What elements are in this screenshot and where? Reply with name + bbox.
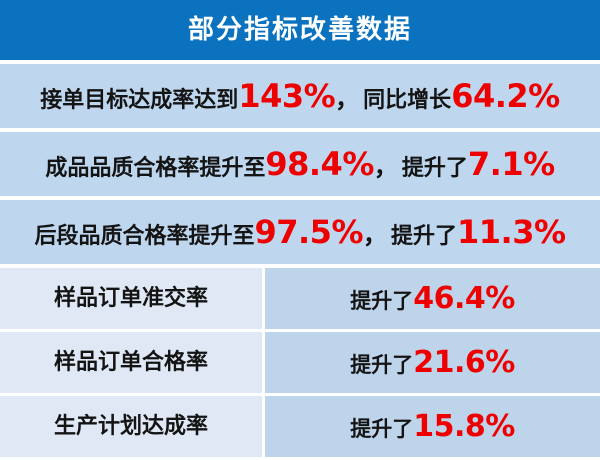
statement-prefix: 接单目标达成率达到 xyxy=(40,90,238,112)
metric-label-cell: 样品订单准交率 xyxy=(0,268,262,329)
metric-label-cell: 生产计划达成率 xyxy=(0,396,262,457)
statement-prefix: 成品品质合格率提升至 xyxy=(45,158,265,180)
metric-value-number: 46.4% xyxy=(413,284,515,314)
metric-label: 生产计划达成率 xyxy=(54,416,208,438)
metric-label: 样品订单合格率 xyxy=(54,352,208,374)
metric-value: 提升了15.8% xyxy=(350,412,515,442)
metric-value-cell: 提升了46.4% xyxy=(265,268,600,329)
metric-value-prefix: 提升了 xyxy=(350,355,413,376)
statement-middle: 提升了 xyxy=(391,226,457,248)
metric-row: 样品订单准交率 提升了46.4% xyxy=(0,268,600,329)
statement-row: 成品品质合格率提升至98.4%，提升了7.1% xyxy=(0,132,600,196)
statement-value-primary: 143% xyxy=(238,80,335,112)
statement-value-secondary: 7.1% xyxy=(468,148,555,180)
statement-prefix: 后段品质合格率提升至 xyxy=(34,226,254,248)
metric-value-cell: 提升了15.8% xyxy=(265,396,600,457)
statement-middle: 同比增长 xyxy=(363,90,451,112)
statement-value-secondary: 64.2% xyxy=(451,80,560,112)
metric-value-cell: 提升了21.6% xyxy=(265,332,600,393)
header-bar: 部分指标改善数据 xyxy=(0,0,600,60)
statement-row: 接单目标达成率达到143%，同比增长64.2% xyxy=(0,64,600,128)
statement-separator: ， xyxy=(374,155,402,179)
metric-value: 提升了21.6% xyxy=(350,348,515,378)
metric-label: 样品订单准交率 xyxy=(54,288,208,310)
statement-middle: 提升了 xyxy=(402,158,468,180)
statement-row: 后段品质合格率提升至97.5%，提升了11.3% xyxy=(0,200,600,264)
metric-value-number: 15.8% xyxy=(413,412,515,442)
infographic-panel: 部分指标改善数据 接单目标达成率达到143%，同比增长64.2% 成品品质合格率… xyxy=(0,0,600,452)
metric-value: 提升了46.4% xyxy=(350,284,515,314)
statement-separator: ， xyxy=(335,87,363,111)
metric-row: 生产计划达成率 提升了15.8% xyxy=(0,396,600,457)
statement-line: 后段品质合格率提升至97.5%，提升了11.3% xyxy=(34,216,565,248)
statement-line: 接单目标达成率达到143%，同比增长64.2% xyxy=(40,80,559,112)
metric-value-number: 21.6% xyxy=(413,348,515,378)
page-title: 部分指标改善数据 xyxy=(188,17,412,43)
metric-label-cell: 样品订单合格率 xyxy=(0,332,262,393)
statement-value-primary: 97.5% xyxy=(254,216,363,248)
content-rows: 接单目标达成率达到143%，同比增长64.2% 成品品质合格率提升至98.4%，… xyxy=(0,60,600,460)
metric-value-prefix: 提升了 xyxy=(350,419,413,440)
statement-separator: ， xyxy=(363,223,391,247)
metric-row: 样品订单合格率 提升了21.6% xyxy=(0,332,600,393)
statement-value-primary: 98.4% xyxy=(265,148,374,180)
statement-line: 成品品质合格率提升至98.4%，提升了7.1% xyxy=(45,148,554,180)
metric-value-prefix: 提升了 xyxy=(350,291,413,312)
statement-value-secondary: 11.3% xyxy=(457,216,566,248)
